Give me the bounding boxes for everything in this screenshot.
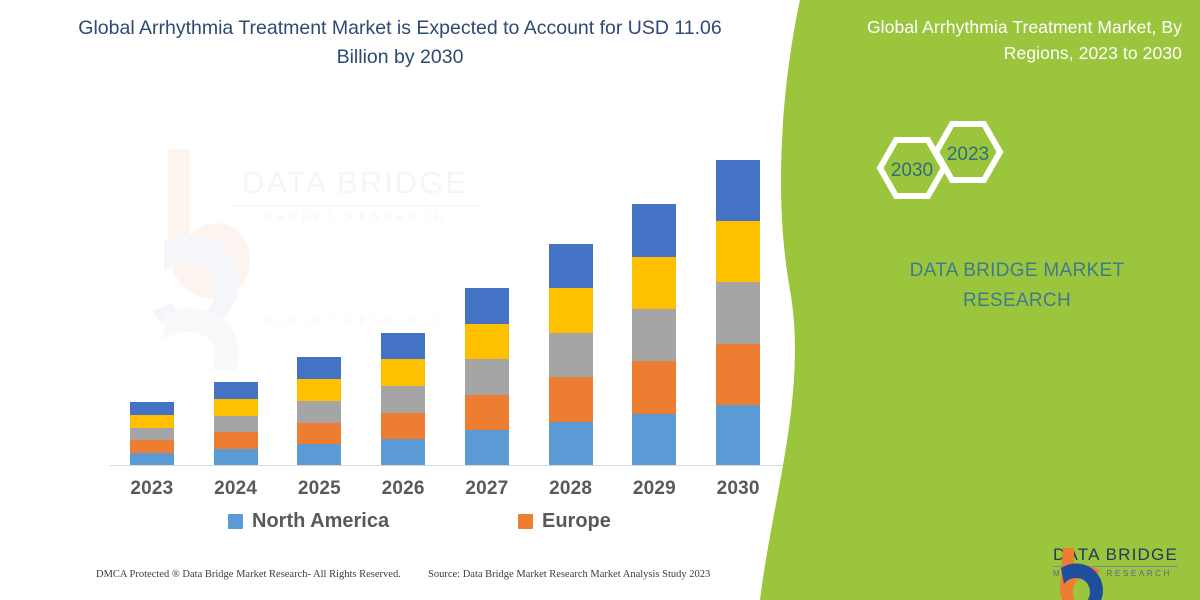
bar-segment-2029-series-4[interactable] bbox=[632, 257, 676, 309]
bar-segment-2027-europe[interactable] bbox=[465, 395, 509, 431]
bar-segment-2029-series-5[interactable] bbox=[632, 204, 676, 256]
bar-segment-2028-north-america[interactable] bbox=[549, 422, 593, 466]
bar-2030[interactable] bbox=[716, 160, 760, 466]
x-axis-label-2026: 2026 bbox=[363, 478, 443, 500]
bar-segment-2029-north-america[interactable] bbox=[632, 414, 676, 466]
hexagon-2023-label: 2023 bbox=[947, 144, 989, 165]
bar-segment-2026-europe[interactable] bbox=[381, 413, 425, 440]
hexagon-2030-label: 2030 bbox=[891, 160, 933, 181]
bar-segment-2026-series-5[interactable] bbox=[381, 333, 425, 360]
bar-segment-2023-series-3[interactable] bbox=[130, 428, 174, 441]
panel-brand-line-2: RESEARCH bbox=[852, 286, 1182, 316]
bar-segment-2030-series-4[interactable] bbox=[716, 221, 760, 282]
x-axis-label-2023: 2023 bbox=[112, 478, 192, 500]
bar-2028[interactable] bbox=[549, 244, 593, 466]
bar-segment-2026-series-4[interactable] bbox=[381, 359, 425, 386]
bar-segment-2025-north-america[interactable] bbox=[297, 444, 341, 466]
legend-item-europe[interactable]: Europe bbox=[518, 510, 611, 533]
bar-segment-2029-europe[interactable] bbox=[632, 361, 676, 413]
bar-segment-2027-series-5[interactable] bbox=[465, 288, 509, 324]
bar-segment-2024-north-america[interactable] bbox=[214, 449, 258, 466]
bar-segment-2028-series-4[interactable] bbox=[549, 288, 593, 332]
legend-swatch-icon bbox=[228, 514, 243, 529]
hexagon-badges: 2030 2023 bbox=[760, 118, 1200, 218]
bar-segment-2023-europe[interactable] bbox=[130, 440, 174, 453]
bar-segment-2028-series-3[interactable] bbox=[549, 333, 593, 377]
bar-segment-2023-series-4[interactable] bbox=[130, 415, 174, 428]
bar-segment-2026-series-3[interactable] bbox=[381, 386, 425, 413]
bar-segment-2030-series-5[interactable] bbox=[716, 160, 760, 221]
x-axis-label-2029: 2029 bbox=[614, 478, 694, 500]
bar-segment-2030-north-america[interactable] bbox=[716, 405, 760, 466]
bar-segment-2028-europe[interactable] bbox=[549, 377, 593, 421]
bar-segment-2027-series-4[interactable] bbox=[465, 324, 509, 360]
company-logo: DATA BRIDGE MARKET RESEARCH bbox=[1053, 546, 1178, 578]
x-axis-label-2025: 2025 bbox=[279, 478, 359, 500]
bar-2026[interactable] bbox=[381, 333, 425, 466]
footer-copyright: DMCA Protected ® Data Bridge Market Rese… bbox=[96, 569, 401, 580]
x-axis-line bbox=[110, 465, 782, 466]
bar-segment-2025-series-5[interactable] bbox=[297, 357, 341, 379]
legend-item-north-america[interactable]: North America bbox=[228, 510, 389, 533]
bar-segment-2023-series-5[interactable] bbox=[130, 402, 174, 415]
legend-swatch-icon bbox=[518, 514, 533, 529]
page-title: Global Arrhythmia Treatment Market is Ex… bbox=[60, 14, 740, 72]
bar-segment-2026-north-america[interactable] bbox=[381, 439, 425, 466]
logo-mark-icon bbox=[1053, 546, 1107, 600]
bar-2025[interactable] bbox=[297, 357, 341, 466]
panel-brand-line-1: DATA BRIDGE MARKET bbox=[852, 256, 1182, 286]
legend-label: North America bbox=[252, 510, 389, 533]
legend-label: Europe bbox=[542, 510, 611, 533]
bar-2024[interactable] bbox=[214, 382, 258, 466]
bar-segment-2025-series-4[interactable] bbox=[297, 379, 341, 401]
brand-panel: Global Arrhythmia Treatment Market, By R… bbox=[760, 0, 1200, 600]
bar-2029[interactable] bbox=[632, 204, 676, 466]
bar-segment-2030-europe[interactable] bbox=[716, 344, 760, 405]
bar-segment-2025-europe[interactable] bbox=[297, 423, 341, 445]
x-axis-label-2024: 2024 bbox=[196, 478, 276, 500]
bar-segment-2028-series-5[interactable] bbox=[549, 244, 593, 288]
bar-segment-2027-series-3[interactable] bbox=[465, 359, 509, 395]
bar-segment-2024-series-4[interactable] bbox=[214, 399, 258, 416]
panel-brand: DATA BRIDGE MARKET RESEARCH bbox=[852, 256, 1182, 316]
bar-segment-2030-series-3[interactable] bbox=[716, 282, 760, 343]
chart-legend: North AmericaEurope bbox=[110, 510, 780, 542]
bar-2023[interactable] bbox=[130, 402, 174, 466]
bar-segment-2024-series-5[interactable] bbox=[214, 382, 258, 399]
x-axis-label-2027: 2027 bbox=[447, 478, 527, 500]
bar-segment-2029-series-3[interactable] bbox=[632, 309, 676, 361]
panel-title: Global Arrhythmia Treatment Market, By R… bbox=[812, 14, 1182, 66]
bar-segment-2024-series-3[interactable] bbox=[214, 416, 258, 433]
bar-segment-2024-europe[interactable] bbox=[214, 432, 258, 449]
bar-segment-2027-north-america[interactable] bbox=[465, 430, 509, 466]
x-axis-label-2028: 2028 bbox=[531, 478, 611, 500]
bar-chart-plot bbox=[110, 140, 780, 466]
footer: DMCA Protected ® Data Bridge Market Rese… bbox=[0, 566, 790, 592]
x-axis-labels: 20232024202520262027202820292030 bbox=[110, 478, 780, 506]
footer-source: Source: Data Bridge Market Research Mark… bbox=[428, 569, 710, 580]
bar-2027[interactable] bbox=[465, 288, 509, 466]
bar-segment-2025-series-3[interactable] bbox=[297, 401, 341, 423]
